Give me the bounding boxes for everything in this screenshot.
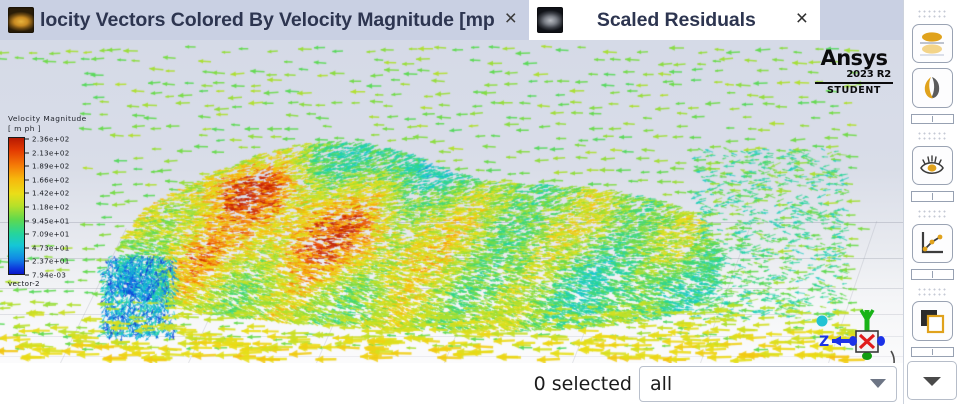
- chevron-down-icon: [921, 374, 943, 388]
- chevron-down-icon: [870, 379, 886, 388]
- mirror-planes-icon: [918, 29, 946, 57]
- more-options-button[interactable]: [907, 361, 957, 400]
- toolbar-grip-handle-1[interactable]: [917, 9, 947, 20]
- graphics-viewport[interactable]: Velocity Magnitude [ m ph ] 2.36e+022.13…: [0, 40, 903, 363]
- tab-2[interactable]: Scaled Residuals×: [529, 0, 820, 40]
- tab-label: locity Vectors Colored By Velocity Magni…: [40, 9, 495, 32]
- mirror-planes-button[interactable]: [912, 24, 953, 64]
- copy-layers-button[interactable]: [912, 301, 953, 341]
- selection-filter-dropdown[interactable]: all: [639, 366, 897, 402]
- tab-label: Scaled Residuals: [597, 9, 756, 32]
- triad-origin-ball: [817, 316, 828, 327]
- graphics-tab-bar[interactable]: locity Vectors Colored By Velocity Magni…: [0, 0, 903, 40]
- xy-plot-icon: [918, 229, 946, 257]
- toolbar-slider-1[interactable]: [911, 114, 954, 125]
- velocity-vectors-thumbnail: [8, 7, 34, 33]
- triad-y-base: [862, 352, 872, 360]
- residuals-thumbnail: [537, 7, 563, 33]
- two-tone-blob-icon: [918, 74, 946, 102]
- view-options-button[interactable]: [912, 146, 953, 186]
- toolbar-slider-2[interactable]: [911, 191, 954, 202]
- selection-count-label: 0 selected: [534, 373, 632, 395]
- velocity-vector-field: [0, 40, 903, 363]
- stacked-windows-icon: [918, 307, 946, 335]
- tab-close-icon[interactable]: ×: [794, 8, 810, 32]
- triad-z-label: Z: [819, 334, 829, 350]
- toolbar-slider-3[interactable]: [911, 269, 954, 280]
- toolbar-slider-4[interactable]: [911, 347, 954, 358]
- contours-button[interactable]: [912, 68, 953, 108]
- eye-icon: [917, 151, 947, 181]
- triad-z-cap: [849, 336, 857, 346]
- triad-z-arrow: [832, 336, 841, 346]
- plot-axes-button[interactable]: [912, 224, 953, 264]
- ansys-fluent-window: Velocity Magnitude [ m ph ] 2.36e+022.13…: [0, 0, 960, 404]
- toolbar-grip-handle-3[interactable]: [917, 209, 947, 220]
- triad-z-cap2: [877, 336, 885, 346]
- axis-triad[interactable]: Z: [800, 304, 900, 363]
- toolbar-grip-handle-2[interactable]: [917, 131, 947, 142]
- rotate-arrow-vertical[interactable]: [891, 351, 894, 363]
- tab-close-icon[interactable]: ×: [503, 8, 519, 32]
- selection-status-bar: 0 selected all: [0, 363, 903, 404]
- tab-1[interactable]: locity Vectors Colored By Velocity Magni…: [0, 0, 529, 40]
- graphics-right-toolbar[interactable]: [903, 0, 960, 404]
- toolbar-grip-handle-4[interactable]: [917, 287, 947, 298]
- selection-filter-value: all: [650, 373, 870, 395]
